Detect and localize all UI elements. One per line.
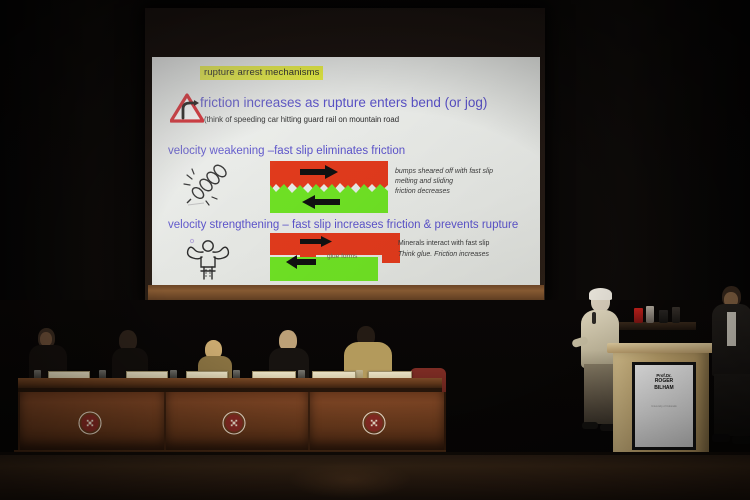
note-line: friction decreases [395, 188, 450, 195]
slide-title: rupture arrest mechanisms [200, 66, 323, 80]
bottle [634, 308, 643, 323]
note-line: bumps sheared off with fast slip [395, 168, 493, 175]
attendee-shoe [712, 434, 730, 442]
slide-heading-3: velocity strengthening – fast slip incre… [168, 219, 518, 231]
slide-heading-1: friction increases as rupture enters ben… [200, 95, 487, 110]
attendee-legs [714, 374, 750, 436]
attendee-shirt [727, 312, 736, 346]
speaker-legs [584, 364, 616, 424]
slide-heading-2: velocity weakening –fast slip eliminates… [168, 145, 405, 157]
slide-note-strengthening: Minerals interact with fast slip Think g… [398, 239, 489, 260]
note-line: Minerals interact with fast slip [398, 240, 489, 247]
diagram-glue-label: glue forms [327, 253, 357, 260]
institutional-seal-icon [78, 411, 102, 435]
note-line: Think glue. Friction increases [398, 251, 489, 258]
standing-attendee [712, 286, 750, 461]
podium-name-text: Prof.Dr. ROGER BILHAM [654, 373, 673, 391]
stage-curtain-left [0, 0, 150, 330]
breaking-chain-icon [182, 161, 232, 209]
institutional-seal-icon [222, 411, 246, 435]
microphone-icon [592, 312, 596, 324]
bottle [672, 307, 680, 323]
podium-first-name: ROGER [655, 378, 673, 384]
institutional-seal-icon [362, 411, 386, 435]
floor-reflection [290, 462, 410, 498]
note-line: melting and sliding [395, 178, 453, 185]
podium-affiliation: University of Colorado [651, 405, 677, 409]
projection-screen: rupture arrest mechanisms friction incre… [152, 57, 540, 285]
bend-road-warning-triangle-icon [170, 93, 204, 123]
podium-last-name: BILHAM [654, 385, 673, 391]
bottle [646, 306, 654, 323]
attendee-shoe [732, 436, 750, 444]
podium-top-surface [607, 343, 715, 353]
fault-diagram-rough [270, 161, 388, 213]
slide-note-weakening: bumps sheared off with fast slip melting… [395, 167, 493, 197]
lecture-hall-photo: rupture arrest mechanisms friction incre… [0, 0, 750, 500]
panel-table-top [18, 378, 442, 388]
bottle [659, 310, 668, 323]
flexing-strongman-icon [184, 237, 232, 281]
podium-name-sign: Prof.Dr. ROGER BILHAM University of Colo… [632, 362, 696, 450]
screen-wood-trim [148, 285, 544, 301]
slide-subtext-1: (think of speeding car hitting guard rai… [204, 115, 399, 124]
speaker-shoe [582, 422, 598, 429]
stage-curtain-right [540, 0, 750, 320]
presentation-slide: rupture arrest mechanisms friction incre… [152, 57, 540, 285]
